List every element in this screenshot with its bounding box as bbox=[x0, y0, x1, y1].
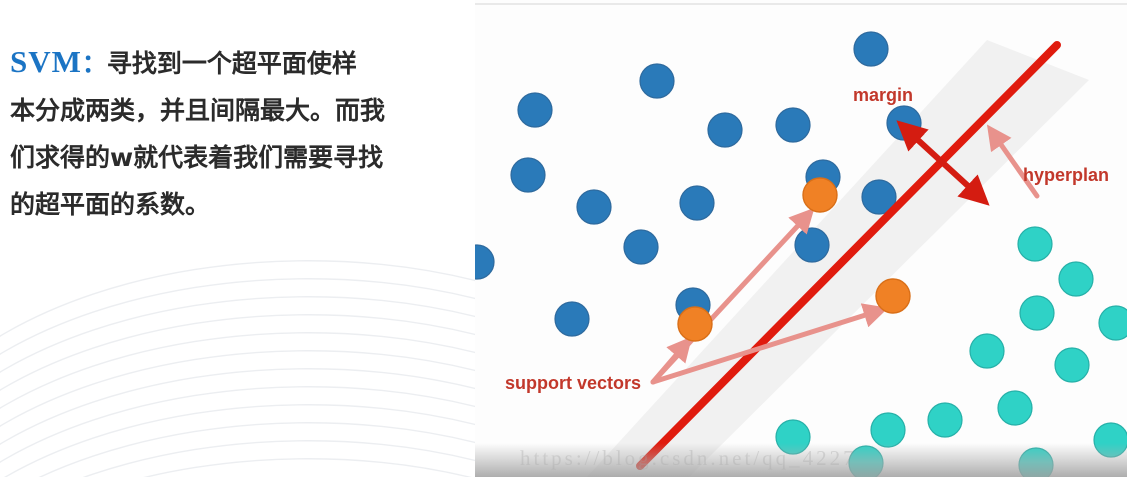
data-point-teal bbox=[1055, 348, 1089, 382]
data-point-teal bbox=[776, 420, 810, 454]
data-point-teal bbox=[871, 413, 905, 447]
slide-text-panel: SVM：寻找到一个超平面使样 本分成两类，并且间隔最大。而我 们求得的w就代表着… bbox=[0, 0, 475, 477]
data-point-teal bbox=[1059, 262, 1093, 296]
data-point-support-vector bbox=[678, 307, 712, 341]
data-point-teal bbox=[1094, 423, 1127, 457]
label-margin: margin bbox=[853, 85, 913, 106]
text-line-1: SVM：寻找到一个超平面使样 bbox=[10, 38, 460, 87]
title-colon: ： bbox=[82, 49, 107, 78]
data-point-teal bbox=[998, 391, 1032, 425]
data-point-blue bbox=[577, 190, 611, 224]
data-point-blue bbox=[555, 302, 589, 336]
decorative-arcs bbox=[0, 217, 475, 477]
hyperplane-line bbox=[640, 45, 1057, 466]
data-point-blue bbox=[475, 245, 494, 279]
label-hyperplane: hyperplan bbox=[1023, 165, 1109, 186]
data-point-teal bbox=[970, 334, 1004, 368]
text-line-3: 们求得的w就代表着我们需要寻找 bbox=[10, 134, 460, 181]
data-point-blue bbox=[776, 108, 810, 142]
data-point-support-vector bbox=[803, 178, 837, 212]
slide-body-text: SVM：寻找到一个超平面使样 本分成两类，并且间隔最大。而我 们求得的w就代表着… bbox=[10, 38, 460, 228]
svm-scatter-plot bbox=[475, 0, 1127, 477]
label-support-vectors: support vectors bbox=[505, 373, 641, 394]
data-point-blue bbox=[854, 32, 888, 66]
slide-root: SVM：寻找到一个超平面使样 本分成两类，并且间隔最大。而我 们求得的w就代表着… bbox=[0, 0, 1127, 477]
data-point-support-vector bbox=[876, 279, 910, 313]
page-title: SVM bbox=[10, 44, 82, 79]
data-point-teal bbox=[1099, 306, 1127, 340]
data-point-blue bbox=[640, 64, 674, 98]
data-point-blue bbox=[680, 186, 714, 220]
data-point-blue bbox=[518, 93, 552, 127]
data-point-teal bbox=[1018, 227, 1052, 261]
svm-diagram-panel: margin hyperplan support vectors https:/… bbox=[475, 0, 1127, 477]
text-line-4: 的超平面的系数。 bbox=[10, 181, 460, 228]
data-point-teal bbox=[928, 403, 962, 437]
data-point-blue bbox=[511, 158, 545, 192]
data-point-teal bbox=[1020, 296, 1054, 330]
data-point-blue bbox=[795, 228, 829, 262]
text-line-2: 本分成两类，并且间隔最大。而我 bbox=[10, 87, 460, 134]
text-run-1: 寻找到一个超平面使样 bbox=[107, 49, 357, 78]
data-point-teal bbox=[1019, 448, 1053, 477]
data-point-teal bbox=[849, 446, 883, 477]
data-point-blue bbox=[708, 113, 742, 147]
data-point-blue bbox=[624, 230, 658, 264]
